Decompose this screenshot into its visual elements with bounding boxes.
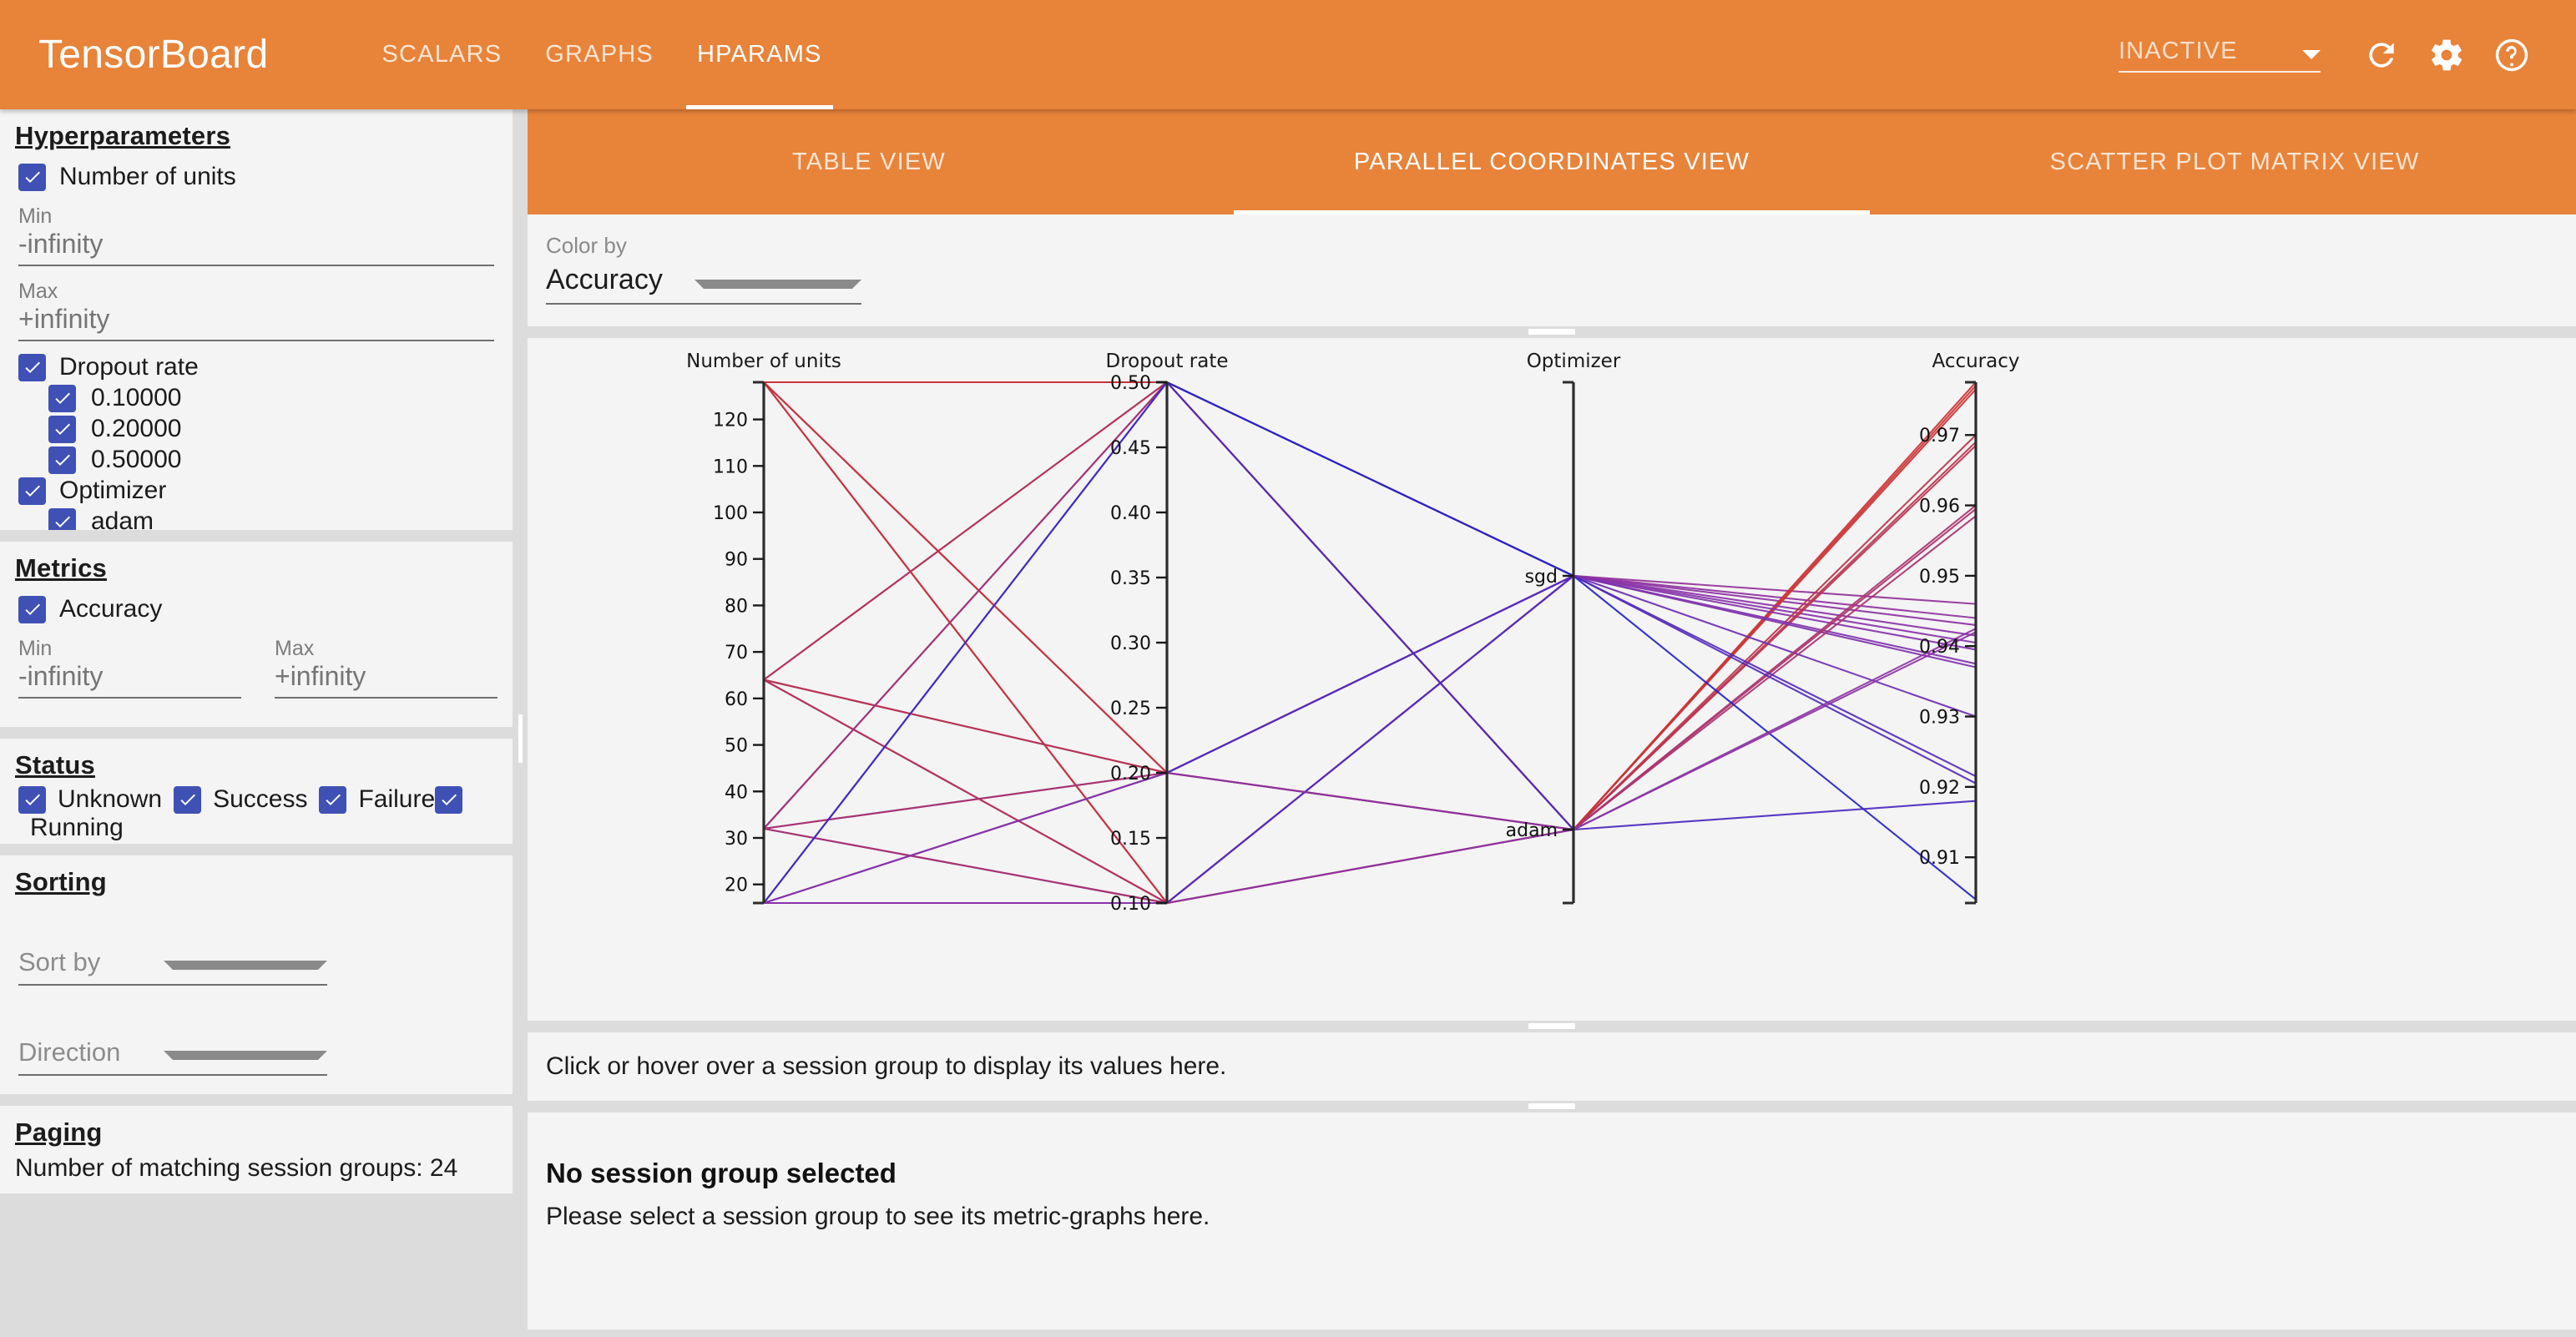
hparam-label: Dropout rate [59, 353, 199, 381]
checkbox-checked-icon[interactable] [18, 477, 46, 505]
units-max-label: Max [18, 280, 494, 304]
pc-axis-title: Dropout rate [1105, 351, 1228, 372]
status-title: Status [0, 739, 513, 780]
pc-axis-1: Dropout rate0.100.150.200.250.300.350.40… [1105, 351, 1228, 915]
pc-axis-tick-label: 0.45 [1110, 438, 1151, 459]
session-values-panel: Click or hover over a session group to d… [528, 1032, 2576, 1101]
hparam-value-label: 0.20000 [91, 415, 181, 443]
checkbox-checked-icon[interactable] [174, 786, 201, 814]
units-max-value: +infinity [18, 304, 494, 341]
units-min-field[interactable]: Min -infinity [0, 204, 513, 266]
checkbox-checked-icon[interactable] [48, 508, 76, 531]
pc-axis-tick-label: 30 [725, 829, 748, 850]
nav-tab-scalars[interactable]: SCALARS [360, 0, 523, 109]
units-max-field[interactable]: Max +infinity [0, 280, 513, 341]
units-min-label: Min [18, 204, 494, 229]
checkbox-checked-icon[interactable] [18, 786, 46, 814]
pc-series-line [764, 382, 1976, 903]
sorting-title: Sorting [0, 855, 513, 897]
pc-axis-tick-label: 0.25 [1110, 699, 1151, 719]
app-brand: TensorBoard [38, 32, 268, 78]
hparam-value-label: 0.50000 [91, 446, 181, 474]
pc-series-line [764, 435, 1976, 830]
pc-axis-tick-label: adam [1506, 820, 1558, 841]
pc-axis-tick-label: 0.93 [1919, 708, 1960, 729]
pc-series-line [764, 382, 1976, 773]
panel-resize-handle[interactable] [1528, 1023, 1575, 1029]
accuracy-min-label: Min [18, 637, 241, 661]
status-label-success: Success [213, 785, 307, 814]
pc-series-line [764, 382, 1976, 903]
hparam-value-label: adam [91, 507, 154, 530]
checkbox-checked-icon[interactable] [48, 416, 76, 443]
pc-series-line [764, 576, 1976, 903]
direction-select[interactable]: Direction [18, 1037, 327, 1076]
accuracy-max-value: +infinity [275, 661, 498, 699]
pc-axis-3: Accuracy0.910.920.930.940.950.960.97 [1919, 351, 2019, 903]
metrics-section: Metrics Accuracy Min -infinity Max +infi… [0, 542, 513, 727]
color-by-panel: Color by Accuracy [528, 214, 2576, 326]
run-selector[interactable]: INACTIVE [2119, 38, 2321, 73]
pc-axis-tick-label: 50 [725, 736, 748, 757]
pc-axis-tick-label: 0.94 [1919, 637, 1960, 658]
color-by-select[interactable]: Accuracy [546, 264, 861, 305]
metric-label: Accuracy [59, 595, 162, 623]
metric-graphs-panel: No session group selected Please select … [528, 1112, 2576, 1329]
chevron-down-icon [164, 1051, 327, 1060]
pc-axis-tick-label: 40 [725, 782, 748, 803]
sidebar-resize-divider[interactable] [513, 109, 528, 1337]
help-button[interactable] [2479, 23, 2544, 88]
metric-checkbox-accuracy[interactable]: Accuracy [0, 595, 513, 623]
pc-axis-title: Accuracy [1932, 351, 2019, 372]
chevron-down-icon [164, 961, 327, 970]
checkbox-checked-icon[interactable] [18, 596, 46, 623]
hparam-value-checkbox-0.50000[interactable]: 0.50000 [0, 446, 513, 474]
hparam-value-checkbox-0.20000[interactable]: 0.20000 [0, 415, 513, 443]
pc-series-line [764, 382, 1976, 903]
main-content: TABLE VIEW PARALLEL COORDINATES VIEW SCA… [528, 109, 2576, 1337]
pc-axis-tick-label: 0.92 [1919, 778, 1960, 799]
parallel-coordinates-chart[interactable]: Number of units2030405060708090100110120… [528, 338, 2576, 1021]
hyperparameters-section: Hyperparameters Number of units Min -inf… [0, 109, 513, 530]
filters-sidebar: Hyperparameters Number of units Min -inf… [0, 109, 513, 1337]
tab-parallel-coordinates-view[interactable]: PARALLEL COORDINATES VIEW [1210, 109, 1893, 214]
matching-session-groups-count: Number of matching session groups: 24 [0, 1148, 513, 1183]
direction-select-control[interactable]: Direction [18, 1037, 327, 1076]
primary-nav-tabs: SCALARS GRAPHS HPARAMS [360, 0, 843, 109]
hparam-checkbox-number-of-units[interactable]: Number of units [0, 163, 513, 191]
panel-resize-handle[interactable] [1528, 329, 1575, 335]
accuracy-min-value: -infinity [18, 661, 241, 699]
no-session-group-title: No session group selected [528, 1112, 2576, 1189]
pc-axis-tick-label: 0.10 [1110, 894, 1151, 915]
checkbox-checked-icon[interactable] [48, 447, 76, 474]
tab-table-view[interactable]: TABLE VIEW [528, 109, 1210, 214]
sidebar-resize-handle[interactable] [518, 714, 523, 763]
nav-tab-graphs[interactable]: GRAPHS [523, 0, 675, 109]
checkbox-checked-icon[interactable] [435, 786, 462, 814]
status-section: Status Unknown Success Failure Running [0, 739, 513, 844]
pc-axis-title: Optimizer [1527, 351, 1621, 372]
hparam-value-label: 0.10000 [91, 384, 181, 412]
status-label-failure: Failure [358, 785, 435, 814]
pc-axis-tick-label: 0.20 [1110, 764, 1151, 785]
hparam-checkbox-optimizer[interactable]: Optimizer [0, 477, 513, 505]
color-by-label: Color by [546, 233, 2576, 259]
hparam-label: Number of units [59, 163, 236, 191]
status-checkbox-group: Unknown Success Failure Running [0, 785, 501, 842]
hparam-label: Optimizer [59, 477, 166, 505]
pc-series-line [764, 382, 1976, 680]
pc-axis-2: Optimizeradamsgd [1506, 351, 1621, 903]
accuracy-max-label: Max [275, 637, 498, 661]
hparam-checkbox-dropout-rate[interactable]: Dropout rate [0, 353, 513, 381]
pc-axis-tick-label: 20 [725, 875, 748, 896]
status-label-unknown: Unknown [58, 785, 162, 814]
pc-axis-tick-label: 0.97 [1919, 426, 1960, 447]
pc-axis-tick-label: 0.40 [1110, 503, 1151, 524]
pc-axis-tick-label: 0.91 [1919, 848, 1960, 869]
gear-icon [2428, 37, 2465, 73]
pc-axis-tick-label: 120 [713, 411, 748, 431]
pc-axis-tick-label: 100 [713, 503, 748, 524]
pc-axis-tick-label: 0.35 [1110, 568, 1151, 589]
sort-by-placeholder: Sort by [18, 947, 164, 977]
chevron-down-icon [2302, 50, 2321, 59]
direction-placeholder: Direction [18, 1037, 164, 1067]
pc-axis-tick-label: 80 [725, 596, 748, 617]
checkbox-checked-icon[interactable] [18, 164, 46, 191]
checkbox-checked-icon[interactable] [48, 385, 76, 412]
refresh-icon [2363, 37, 2400, 73]
app-bar: TensorBoard SCALARS GRAPHS HPARAMS INACT… [0, 0, 2576, 109]
app-bar-actions: INACTIVE [2119, 0, 2544, 109]
hyperparameters-title: Hyperparameters [0, 109, 513, 151]
pc-axis-tick-label: sgd [1525, 567, 1558, 588]
hparam-value-checkbox-0.10000[interactable]: 0.10000 [0, 384, 513, 412]
color-by-value: Accuracy [546, 264, 695, 296]
pc-axis-tick-label: 0.30 [1110, 633, 1151, 654]
parallel-coordinates-panel[interactable]: Number of units2030405060708090100110120… [528, 338, 2576, 1021]
hparam-value-checkbox-adam[interactable]: adam [0, 507, 513, 530]
pc-series-line [764, 382, 1976, 903]
view-tabs: TABLE VIEW PARALLEL COORDINATES VIEW SCA… [528, 109, 2576, 214]
pc-axis-tick-label: 60 [725, 689, 748, 710]
pc-axis-tick-label: 70 [725, 643, 748, 663]
pc-axis-title: Number of units [686, 351, 841, 372]
status-label-running: Running [30, 814, 124, 842]
pc-axis-0: Number of units2030405060708090100110120 [686, 351, 841, 903]
metrics-title: Metrics [0, 542, 513, 583]
pc-axis-tick-label: 110 [713, 457, 748, 477]
accuracy-max-field[interactable]: Max +infinity [256, 623, 513, 699]
hover-hint-text: Click or hover over a session group to d… [528, 1032, 2576, 1081]
settings-button[interactable] [2414, 23, 2479, 88]
checkbox-checked-icon[interactable] [319, 786, 346, 814]
no-session-group-subtitle: Please select a session group to see its… [528, 1189, 2576, 1231]
help-icon [2493, 36, 2531, 74]
metric-range-row: Min -infinity Max +infinity [0, 623, 513, 699]
sorting-section: Sorting Sort by Direction [0, 855, 513, 1094]
refresh-button[interactable] [2349, 23, 2414, 88]
pc-axis-tick-label: 90 [725, 550, 748, 571]
pc-axis-tick-label: 0.50 [1110, 373, 1151, 394]
units-min-value: -infinity [18, 229, 494, 266]
paging-title: Paging [0, 1106, 513, 1148]
accuracy-min-field[interactable]: Min -infinity [0, 623, 256, 699]
panel-resize-handle[interactable] [1528, 1103, 1575, 1109]
sort-by-select[interactable]: Sort by [18, 947, 327, 986]
pc-axis-tick-label: 0.96 [1919, 497, 1960, 517]
checkbox-checked-icon[interactable] [18, 354, 46, 381]
tab-scatter-plot-matrix-view[interactable]: SCATTER PLOT MATRIX VIEW [1893, 109, 2576, 214]
nav-tab-hparams[interactable]: HPARAMS [675, 0, 844, 109]
tensorboard-app: TensorBoard SCALARS GRAPHS HPARAMS INACT… [0, 0, 2576, 1337]
paging-section: Paging Number of matching session groups… [0, 1106, 513, 1193]
chevron-down-icon [695, 280, 861, 289]
run-selector-value: INACTIVE [2119, 38, 2302, 65]
sort-by-select-control[interactable]: Sort by [18, 947, 327, 986]
pc-axis-tick-label: 0.95 [1919, 567, 1960, 588]
pc-axis-tick-label: 0.15 [1110, 829, 1151, 850]
